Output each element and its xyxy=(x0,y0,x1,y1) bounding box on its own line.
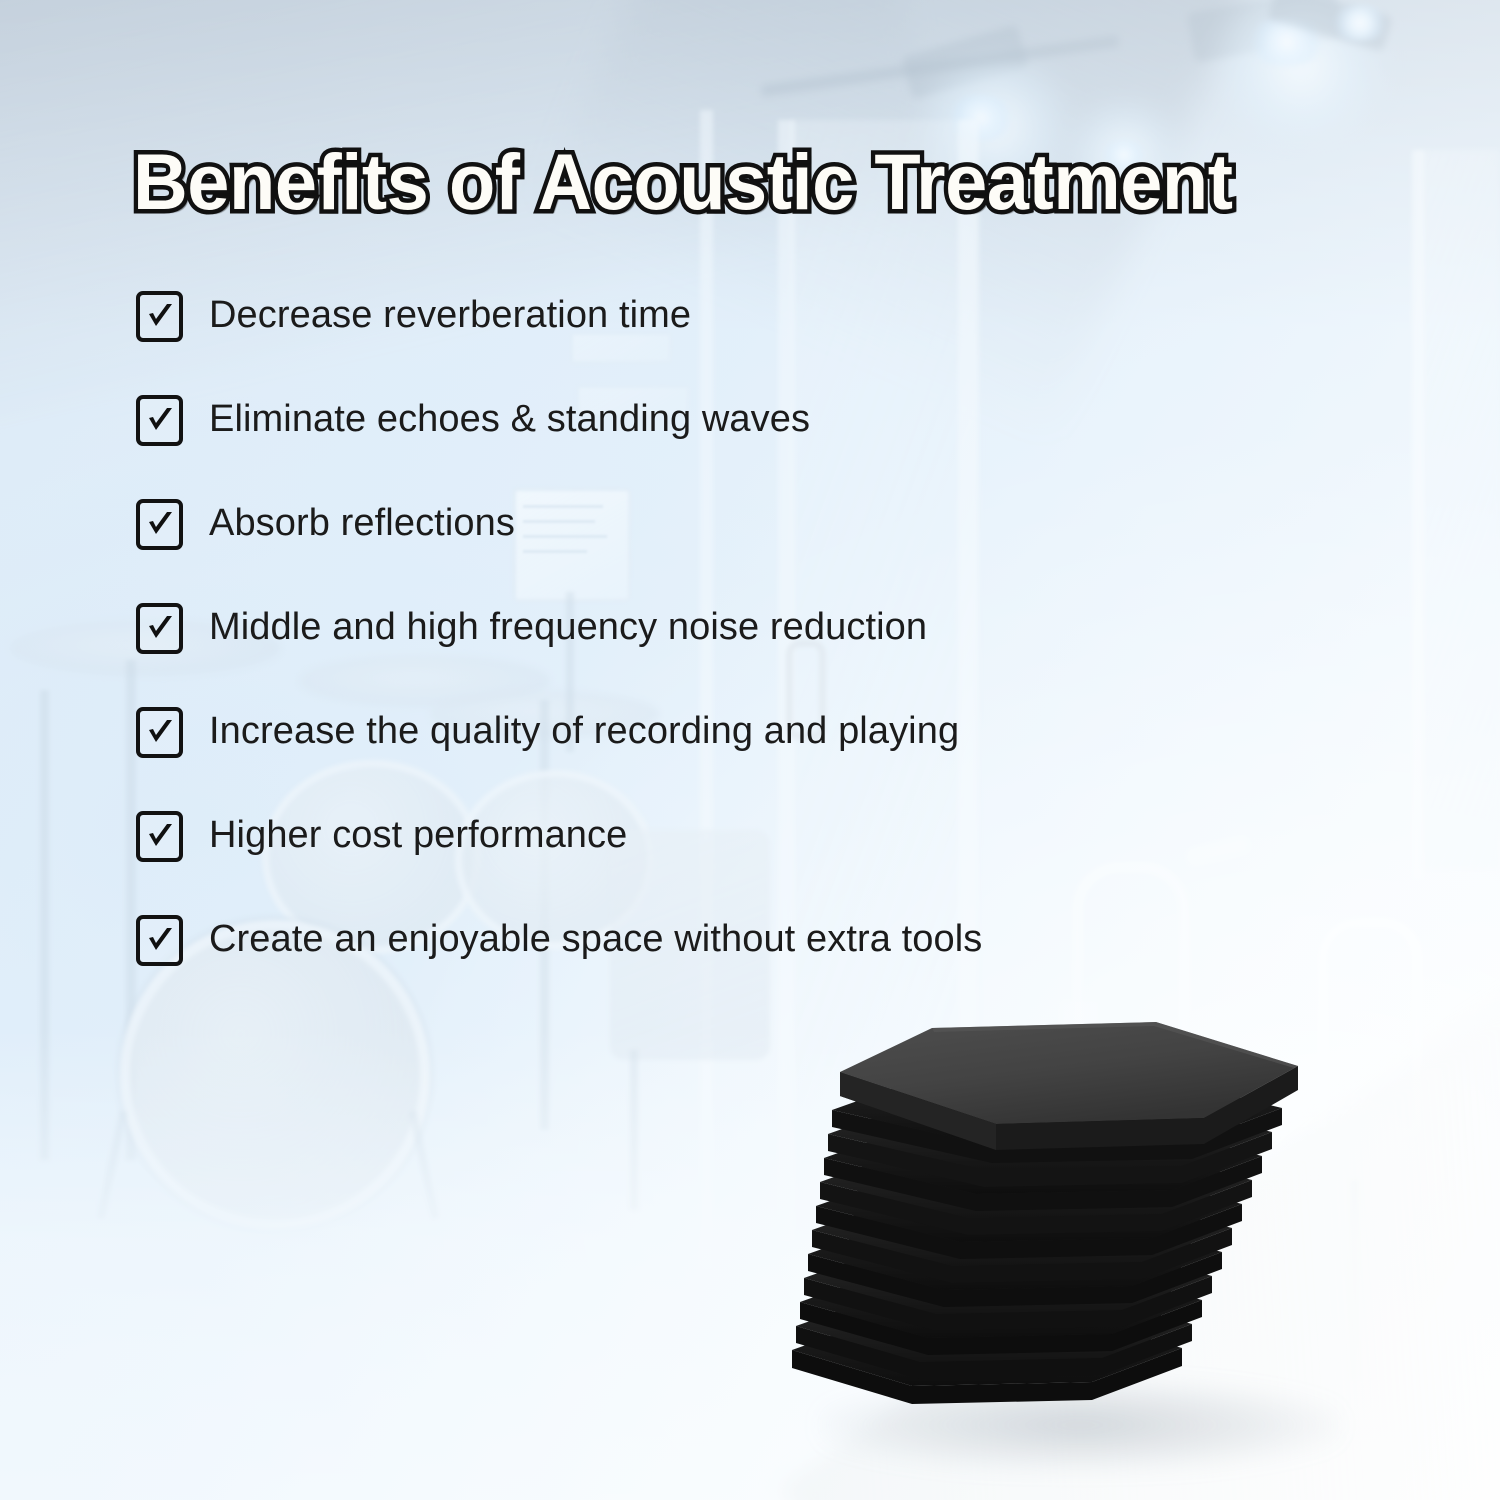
checkbox-checked-icon[interactable] xyxy=(136,707,183,758)
page-title: Benefits of Acoustic Treatment xyxy=(133,142,1233,221)
list-item-label: Create an enjoyable space without extra … xyxy=(209,920,982,960)
list-item-label: Middle and high frequency noise reductio… xyxy=(209,608,927,648)
list-item: Create an enjoyable space without extra … xyxy=(136,912,1136,968)
hex-panel-stack xyxy=(760,980,1380,1450)
list-item-label: Decrease reverberation time xyxy=(209,296,691,336)
list-item: Eliminate echoes & standing waves xyxy=(136,392,1136,448)
list-item: Middle and high frequency noise reductio… xyxy=(136,600,1136,656)
checkbox-checked-icon[interactable] xyxy=(136,915,183,966)
list-item: Absorb reflections xyxy=(136,496,1136,552)
checkbox-checked-icon[interactable] xyxy=(136,499,183,550)
list-item: Increase the quality of recording and pl… xyxy=(136,704,1136,760)
list-item-label: Increase the quality of recording and pl… xyxy=(209,712,959,752)
list-item-label: Eliminate echoes & standing waves xyxy=(209,400,810,440)
list-item: Decrease reverberation time xyxy=(136,288,1136,344)
list-item-label: Higher cost performance xyxy=(209,816,627,856)
checkbox-checked-icon[interactable] xyxy=(136,395,183,446)
poster-canvas: Benefits of Acoustic Treatment Decrease … xyxy=(0,0,1500,1500)
benefits-list: Decrease reverberation time Eliminate ec… xyxy=(136,288,1136,1016)
list-item-label: Absorb reflections xyxy=(209,504,515,544)
checkbox-checked-icon[interactable] xyxy=(136,811,183,862)
list-item: Higher cost performance xyxy=(136,808,1136,864)
checkbox-checked-icon[interactable] xyxy=(136,603,183,654)
product-image xyxy=(760,980,1380,1450)
checkbox-checked-icon[interactable] xyxy=(136,291,183,342)
